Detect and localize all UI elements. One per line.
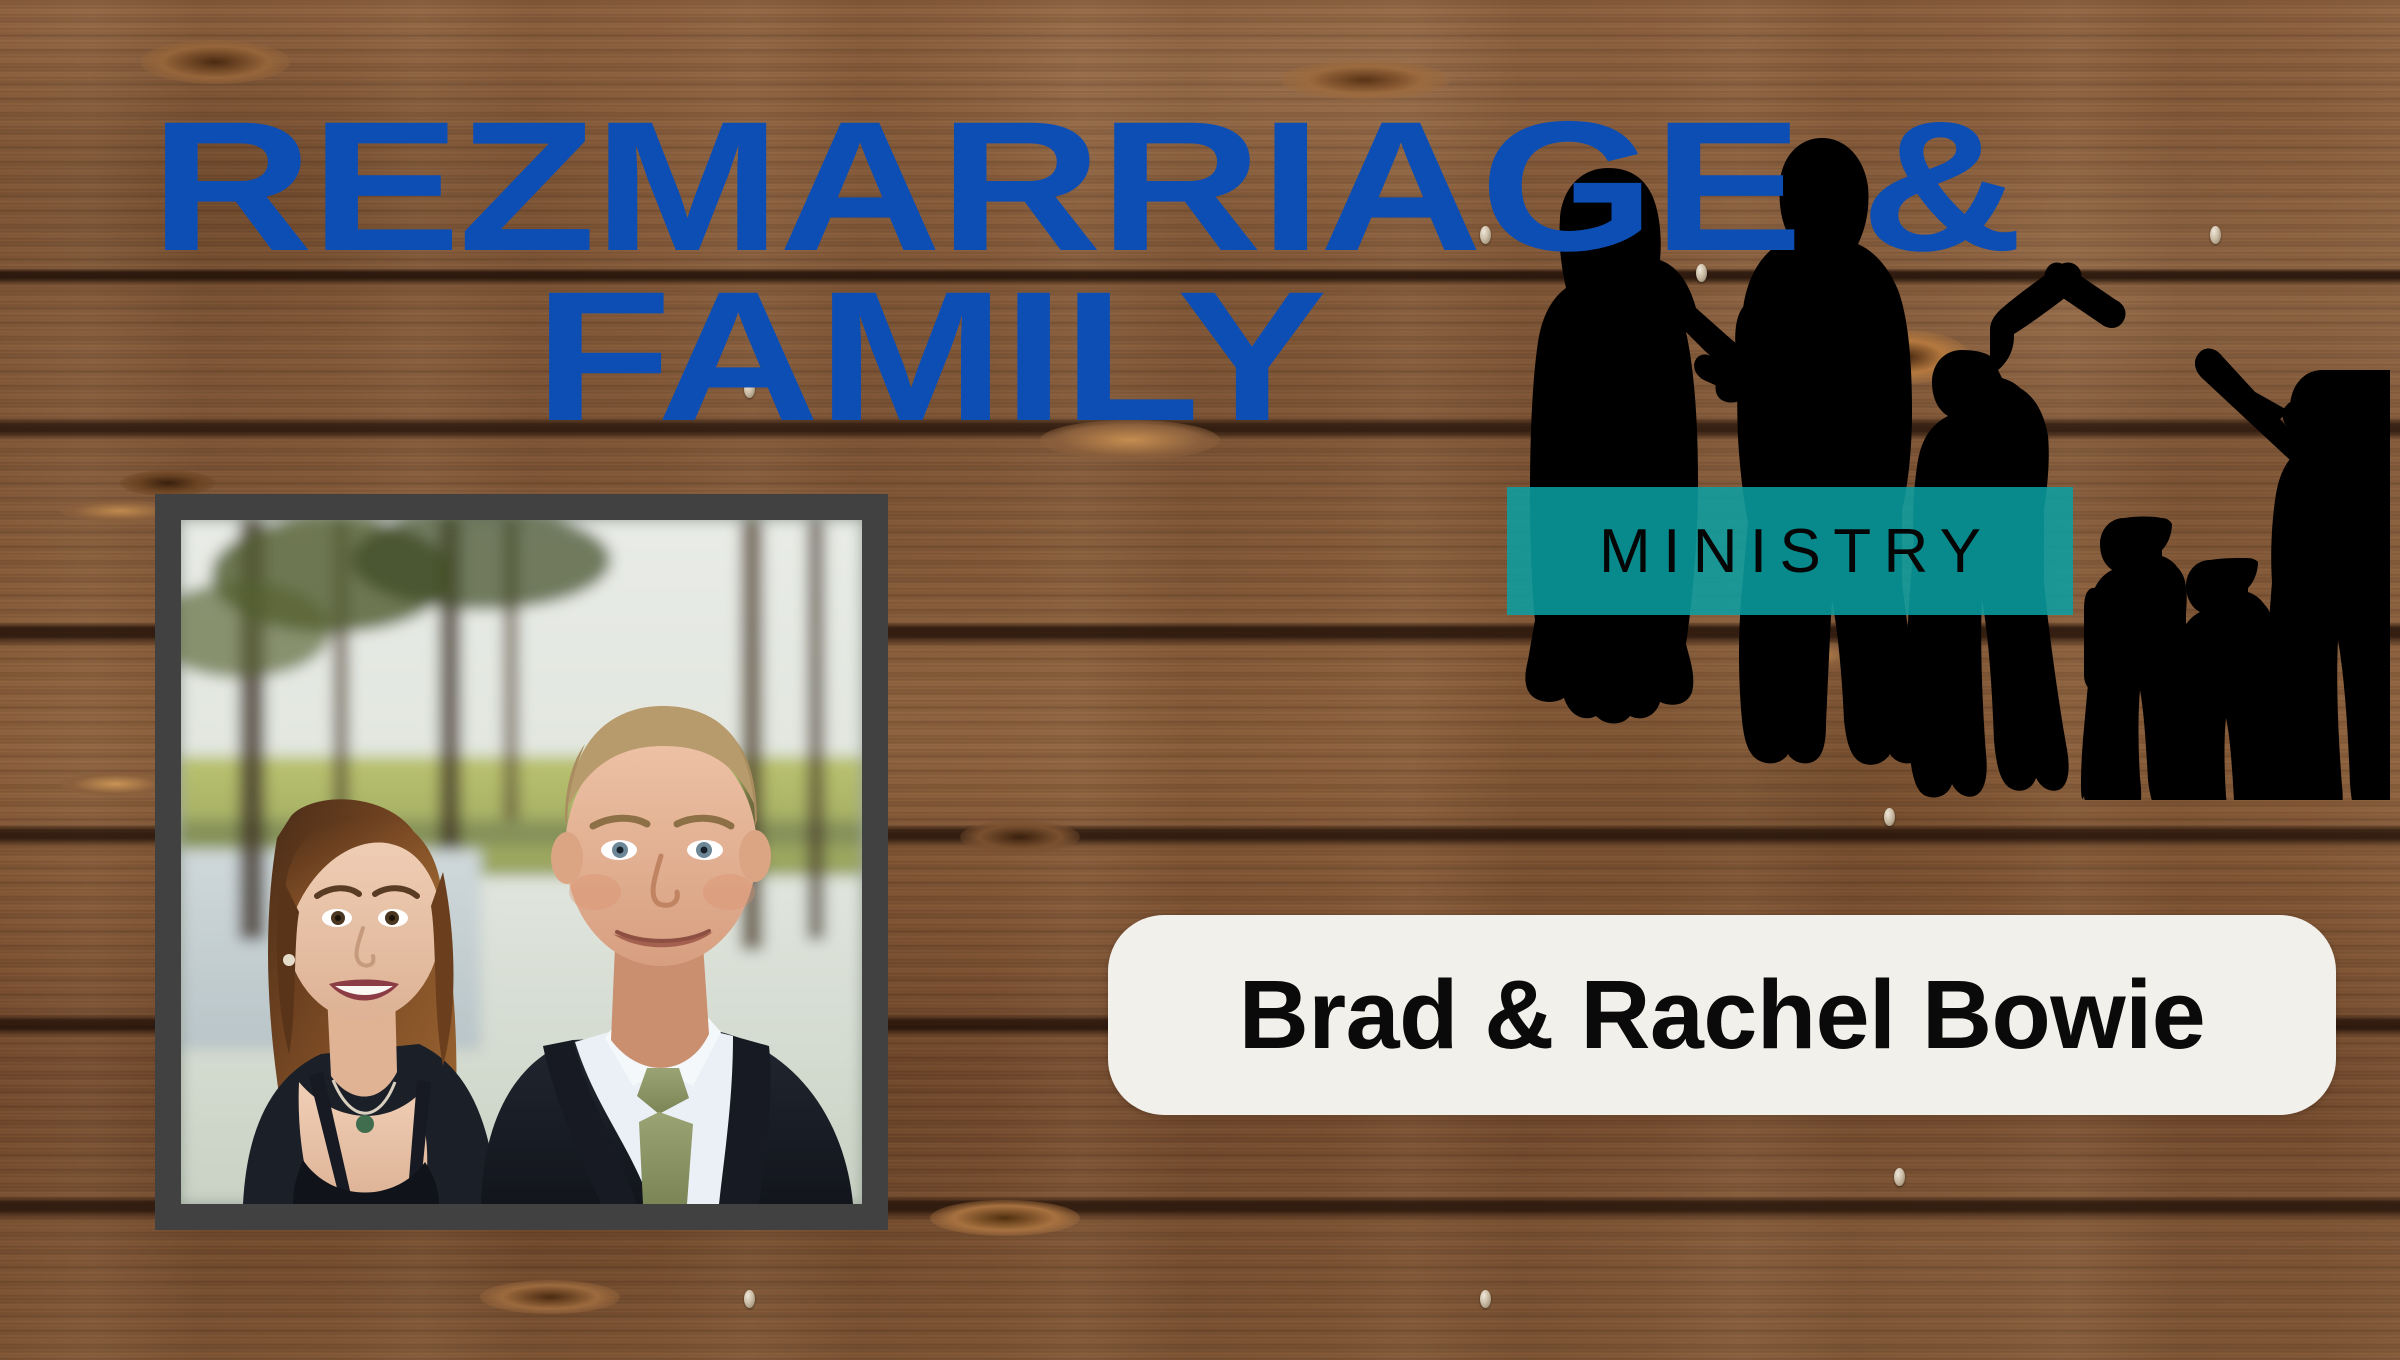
headline-line-1: REZMARRIAGE & xyxy=(150,115,1858,259)
wood-knot xyxy=(960,820,1080,854)
portrait-frame xyxy=(155,494,888,1230)
headline-line-2: FAMILY xyxy=(534,285,1774,429)
wood-knot xyxy=(480,1280,620,1314)
woman-raised-forearm xyxy=(2195,349,2320,466)
wood-knot xyxy=(930,1200,1080,1236)
poster-canvas: REZMARRIAGE & FAMILY MINISTRY xyxy=(0,0,2400,1360)
headline-block: REZMARRIAGE & FAMILY xyxy=(150,115,1550,430)
child-small-arm xyxy=(2084,588,2104,690)
nail-head xyxy=(1884,808,1895,826)
wood-knot xyxy=(140,40,290,84)
nail-head xyxy=(1480,1290,1491,1308)
nail-head xyxy=(744,1290,755,1308)
nail-head xyxy=(1894,1168,1905,1186)
child-smallest-arm xyxy=(2172,630,2192,722)
name-banner-label: Brad & Rachel Bowie xyxy=(1239,959,2205,1071)
wood-knot xyxy=(60,772,170,796)
ministry-tag: MINISTRY xyxy=(1507,487,2073,615)
name-banner: Brad & Rachel Bowie xyxy=(1108,915,2336,1115)
portrait-photo xyxy=(181,520,862,1204)
ministry-tag-label: MINISTRY xyxy=(1587,516,1994,587)
wood-knot xyxy=(120,470,216,496)
